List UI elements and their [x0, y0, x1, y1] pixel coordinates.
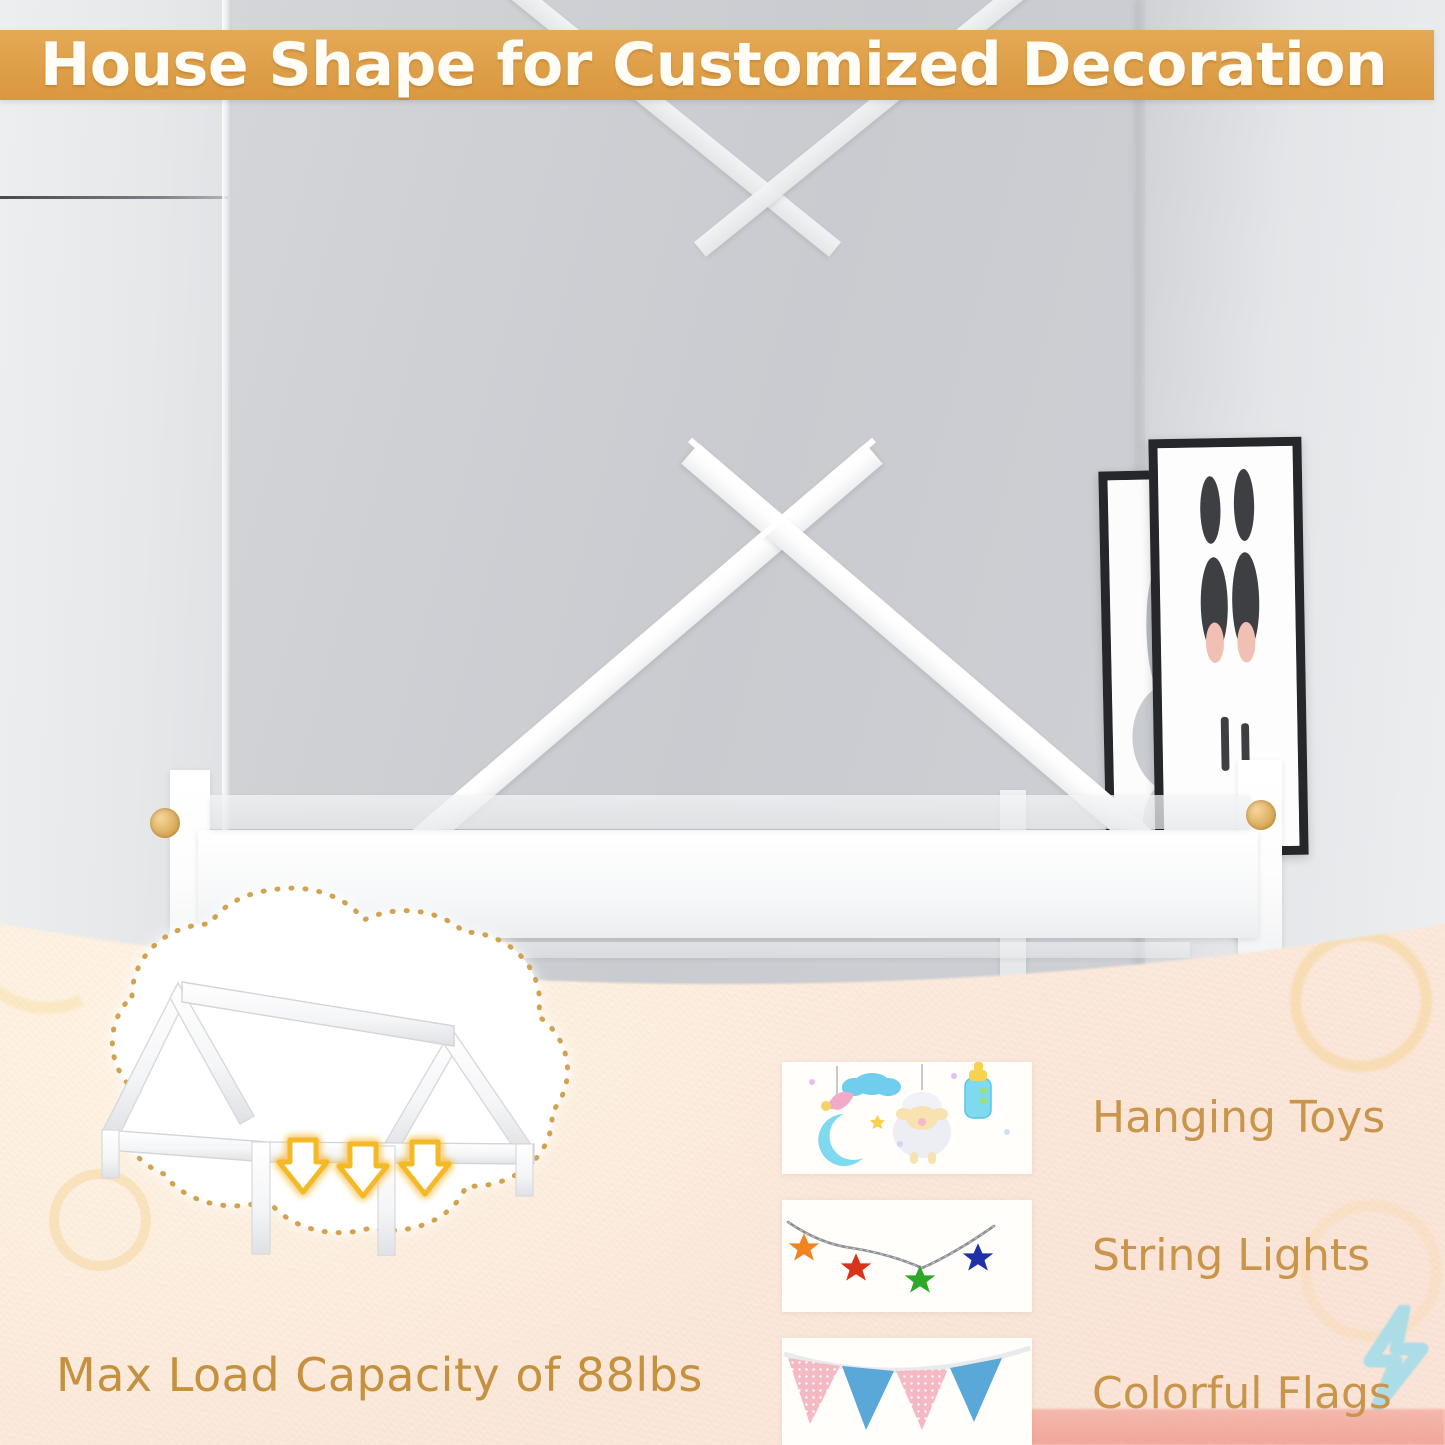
max-load-caption: Max Load Capacity of 88lbs: [56, 1348, 756, 1402]
feature-label-colorful-flags: Colorful Flags: [1092, 1368, 1392, 1419]
feature-row-string-lights[interactable]: String Lights: [782, 1193, 1422, 1318]
title-banner: House Shape for Customized Decoration: [0, 30, 1434, 100]
feature-row-colorful-flags[interactable]: Colorful Flags: [782, 1331, 1422, 1445]
wood-plug-right: [1246, 800, 1276, 830]
page-title: House Shape for Customized Decoration: [40, 35, 1387, 95]
product-feature-poster: House Shape for Customized Decoration: [0, 0, 1445, 1445]
feature-row-hanging-toys[interactable]: Hanging Toys: [782, 1055, 1422, 1180]
wood-plug-left: [150, 808, 180, 838]
bed-rear-rail: [210, 795, 1250, 829]
feature-label-hanging-toys: Hanging Toys: [1092, 1092, 1385, 1143]
wardrobe-seam: [0, 196, 228, 199]
product-photo: [0, 0, 1445, 1010]
cloud-callout: [22, 878, 662, 1308]
hanging-toys-icon: [782, 1062, 1032, 1174]
string-lights-icon: [782, 1200, 1032, 1312]
feature-label-string-lights: String Lights: [1092, 1230, 1370, 1281]
feature-list: Hanging Toys: [782, 1055, 1422, 1445]
house-frame-diagram: [82, 966, 612, 1256]
load-arrow-group: [279, 1140, 449, 1196]
colorful-flags-icon: [782, 1338, 1032, 1445]
